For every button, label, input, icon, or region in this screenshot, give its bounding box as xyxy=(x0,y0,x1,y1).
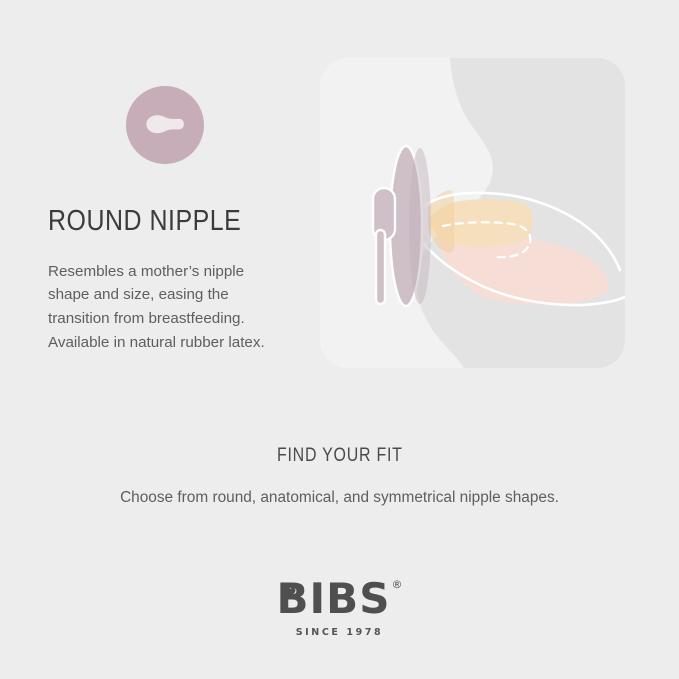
round-nipple-icon xyxy=(126,86,204,164)
brand-wordmark: BIBS® xyxy=(277,578,403,620)
registered-trademark-icon: ® xyxy=(391,578,403,591)
feature-description: Resembles a mother’s nipple shape and si… xyxy=(48,260,288,354)
find-your-fit-section: FIND YOUR FIT Choose from round, anatomi… xyxy=(0,445,679,507)
page-title: ROUND NIPPLE xyxy=(48,206,265,238)
brand-logo: BIBS® SINCE 1978 xyxy=(0,578,679,638)
pacifier-shield xyxy=(373,146,431,306)
product-feature-page: ROUND NIPPLE Resembles a mother’s nipple… xyxy=(0,0,679,679)
feature-text-column: ROUND NIPPLE Resembles a mother’s nipple… xyxy=(48,80,300,354)
heart-icon xyxy=(285,587,296,597)
brand-wordmark-text: BIBS xyxy=(277,574,391,623)
brand-tagline: SINCE 1978 xyxy=(0,627,679,638)
find-your-fit-subtitle: Choose from round, anatomical, and symme… xyxy=(0,489,679,507)
find-your-fit-title: FIND YOUR FIT xyxy=(277,445,403,467)
illustration-card xyxy=(320,58,625,368)
